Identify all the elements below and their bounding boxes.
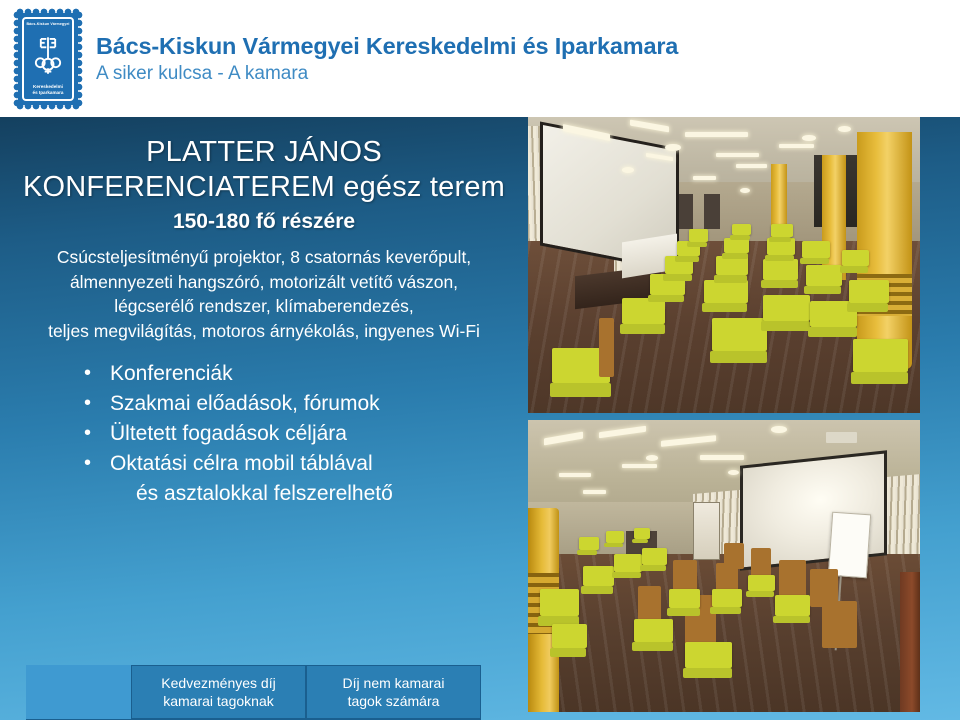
organization-name: Bács-Kiskun Vármegyei Kereskedelmi és Ip…	[96, 31, 678, 61]
column-header-nonmember-line2: tagok számára	[348, 693, 440, 709]
ceiling-light	[622, 464, 657, 468]
chair	[642, 548, 667, 564]
ceiling-light	[736, 164, 767, 168]
chair	[634, 528, 650, 539]
usage-list: Konferenciák Szakmai előadások, fórumok …	[0, 359, 528, 509]
doorway-2	[704, 194, 720, 230]
logo-bottom-line1: Kereskedelmi	[33, 84, 63, 89]
wooden-panel	[900, 572, 920, 712]
chair	[583, 566, 614, 586]
list-item: Oktatási célra mobil táblával és asztalo…	[84, 449, 528, 509]
column-header-nonmember: Díj nem kamarai tagok számára	[306, 665, 481, 719]
chair	[771, 224, 793, 237]
chair	[552, 624, 587, 647]
chair	[763, 259, 798, 280]
chair	[712, 589, 741, 607]
header-text-block: Bács-Kiskun Vármegyei Kereskedelmi és Ip…	[96, 31, 678, 87]
description-line-3: légcserélő rendszer, klímaberendezés,	[4, 294, 524, 319]
ceiling-light	[559, 473, 590, 477]
ceiling-spotlight	[728, 470, 739, 475]
ceiling-light	[779, 144, 814, 148]
air-vent	[826, 432, 857, 444]
list-item-label: Ültetett fogadások céljára	[110, 422, 347, 445]
chair	[634, 619, 673, 642]
description-line-1: Csúcsteljesítményű projektor, 8 csatorná…	[4, 245, 524, 270]
door	[693, 502, 720, 560]
chair	[849, 280, 888, 304]
title-line-1: PLATTER JÁNOS	[146, 136, 382, 168]
chair	[724, 238, 749, 253]
table-header-row: Kedvezményes díj kamarai tagoknak Díj ne…	[26, 665, 481, 719]
logo-top-text: Bács-Kiskun Vármegyei	[26, 22, 69, 27]
chair	[579, 537, 599, 550]
ceiling-spotlight	[802, 135, 815, 142]
list-item: Szakmai előadások, fórumok	[84, 389, 528, 419]
organization-slogan: A siker kulcsa - A kamara	[96, 61, 678, 87]
price-table: Kedvezményes díj kamarai tagoknak Díj ne…	[26, 665, 481, 720]
chair-backrest	[599, 318, 615, 377]
table-corner-cell	[26, 665, 131, 719]
chair	[748, 575, 775, 591]
description-line-4: teljes megvilágítás, motoros árnyékolás,…	[4, 319, 524, 344]
chamber-logo: Bács-Kiskun Vármegyei Kereskedelmi és Ip…	[14, 9, 82, 109]
column-header-member: Kedvezményes díj kamarai tagoknak	[131, 665, 306, 719]
column-header-member-line2: kamarai tagoknak	[163, 693, 274, 709]
ceiling-spotlight	[665, 144, 681, 152]
column-header-nonmember-line1: Díj nem kamarai	[343, 675, 445, 691]
list-item-label: Konferenciák	[110, 362, 233, 385]
chair	[540, 589, 579, 615]
photo-top-scene	[528, 117, 920, 413]
chair	[712, 318, 767, 351]
list-item-continuation: és asztalokkal felszerelhető	[110, 479, 528, 509]
chair	[606, 531, 624, 543]
title-line-2: KONFERENCIATEREM egész terem	[12, 170, 516, 205]
logo-bottom-text: Kereskedelmi és Iparkamara	[33, 84, 64, 96]
slide-left-column: PLATTER JÁNOS KONFERENCIATEREM egész ter…	[0, 117, 528, 720]
logo-bottom-line2: és Iparkamara	[33, 90, 64, 95]
description-line-2: álmennyezeti hangszóró, motorizált vetít…	[4, 270, 524, 295]
list-item: Ültetett fogadások céljára	[84, 419, 528, 449]
column-header-member-line1: Kedvezményes díj	[161, 675, 275, 691]
chair	[689, 229, 709, 241]
chair	[716, 256, 747, 275]
equipment-description: Csúcsteljesítményű projektor, 8 csatorná…	[0, 245, 528, 343]
doorway-1	[677, 194, 693, 230]
ceiling-light	[583, 490, 607, 494]
conference-room-photo-top	[528, 117, 920, 413]
chair-backrest	[779, 560, 806, 598]
chair-backrest	[724, 543, 744, 569]
ceiling-light	[693, 176, 717, 180]
chair	[806, 265, 841, 286]
chair	[802, 241, 829, 257]
chair	[704, 280, 747, 304]
conference-room-photo-bottom	[528, 420, 920, 712]
logo-inner-frame: Bács-Kiskun Vármegyei Kereskedelmi és Ip…	[22, 17, 74, 101]
photo-bottom-scene	[528, 420, 920, 712]
capacity-subtitle: 150-180 fő részére	[0, 209, 528, 235]
chair	[614, 554, 641, 572]
chair-backrest	[751, 548, 771, 577]
page-header: Bács-Kiskun Vármegyei Kereskedelmi és Ip…	[0, 0, 960, 117]
list-item-label: Szakmai előadások, fórumok	[110, 392, 380, 415]
chair	[775, 595, 810, 615]
chair	[763, 295, 810, 322]
chair	[853, 339, 908, 372]
chair	[732, 224, 752, 236]
chair	[842, 250, 869, 266]
ceiling-light	[700, 455, 743, 460]
chair-backrest	[822, 601, 857, 648]
key-emblem-icon	[31, 34, 65, 76]
slide-body: PLATTER JÁNOS KONFERENCIATEREM egész ter…	[0, 117, 960, 720]
ceiling-light	[716, 153, 759, 158]
ceiling-light	[685, 132, 748, 137]
list-item: Konferenciák	[84, 359, 528, 389]
chair	[669, 589, 700, 608]
page-title: PLATTER JÁNOS KONFERENCIATEREM egész ter…	[0, 117, 528, 205]
chair	[685, 642, 732, 668]
list-item-label: Oktatási célra mobil táblával	[110, 452, 373, 475]
ceiling-spotlight	[646, 455, 659, 461]
